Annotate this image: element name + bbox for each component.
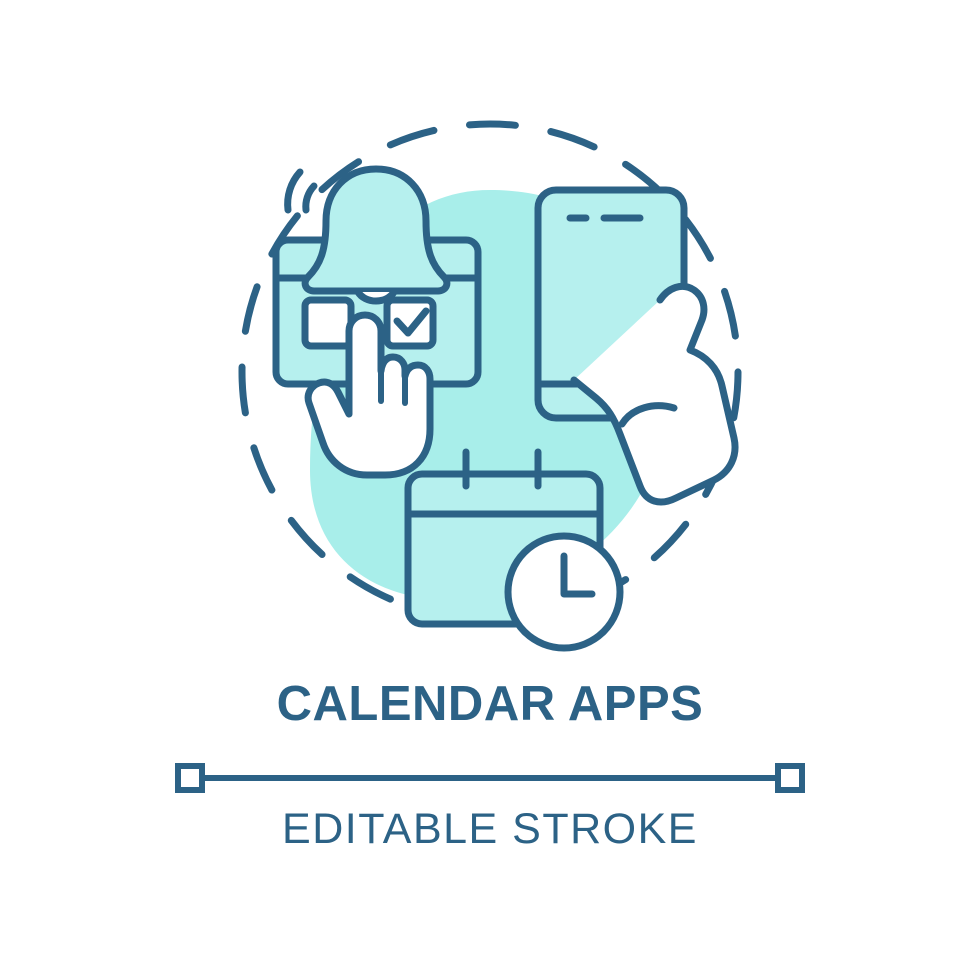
checkbox-checked-icon	[387, 300, 433, 346]
stroke-caption: EDITABLE STROKE	[0, 805, 980, 854]
calendar-clock-icon	[408, 452, 620, 648]
page-title: CALENDAR APPS	[0, 676, 980, 732]
concept-icon-card: CALENDAR APPS EDITABLE STROKE	[0, 0, 980, 980]
clock-icon	[508, 536, 620, 648]
stroke-width-ruler	[178, 766, 802, 790]
bell-icon	[288, 169, 447, 301]
